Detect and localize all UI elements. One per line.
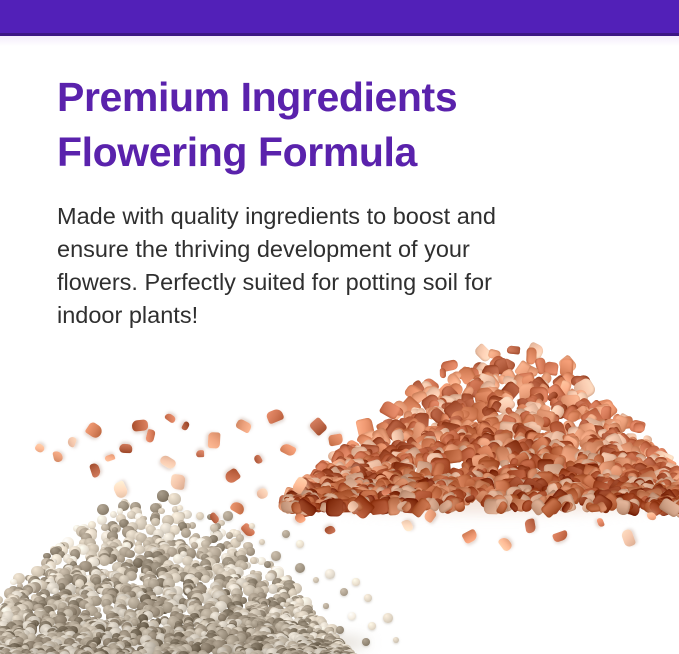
granule [159,454,178,471]
granule [279,442,296,457]
granule [207,432,220,448]
granule [393,637,399,643]
granule [362,638,370,646]
granule [145,429,156,444]
granule [101,524,108,531]
granule [313,577,320,584]
page-title: Premium Ingredients Flowering Formula [57,70,557,180]
granule [97,504,109,515]
product-photo [0,330,679,654]
granule [552,529,569,542]
top-purple-bar [0,0,679,33]
granule [336,626,345,635]
granule [620,528,636,547]
granule [259,539,265,545]
granule [295,563,305,573]
granule [34,442,46,454]
granule [246,547,256,556]
granule [134,545,144,554]
granule [255,487,269,501]
granule [461,528,478,544]
granule [383,613,393,623]
granule [157,490,169,502]
text-block: Premium Ingredients Flowering Formula Ma… [57,70,557,332]
granule [253,455,263,466]
granule [506,345,520,354]
granule [177,505,184,512]
granule [66,436,77,448]
granule [524,518,536,534]
granule [131,420,148,433]
granule [307,627,313,633]
granule [634,423,645,432]
granule [401,519,414,534]
granule [296,540,304,548]
granule [595,517,604,527]
granule [323,603,329,609]
granule [164,412,176,424]
granule [10,579,16,585]
granule [236,534,245,543]
granule [52,449,63,462]
granule [249,523,255,529]
granule [168,493,180,505]
granule [325,569,334,578]
granule [201,575,210,583]
granule [85,421,104,440]
product-feature-banner: Premium Ingredients Flowering Formula Ma… [0,0,679,654]
granule [223,511,232,520]
granule [271,551,281,561]
granule [497,535,513,552]
granule [196,512,204,520]
granule [324,524,336,536]
description-text: Made with quality ingredients to boost a… [57,180,539,332]
granule [348,612,357,621]
granule [588,503,601,512]
granule [104,454,115,463]
granule [340,588,349,597]
granule [196,450,204,457]
granule [181,420,191,431]
granule [265,407,284,424]
granule [440,368,446,378]
granule [89,462,101,478]
top-bar-glow [0,36,679,46]
granule [170,474,185,491]
granule [235,418,253,434]
granule [125,550,135,559]
granule [326,499,343,517]
granule [223,467,242,485]
granule [308,416,327,436]
granule [368,622,376,630]
granule [119,443,133,453]
granule [282,530,290,538]
granule [111,480,128,500]
granule [352,578,359,585]
granule [364,594,372,602]
